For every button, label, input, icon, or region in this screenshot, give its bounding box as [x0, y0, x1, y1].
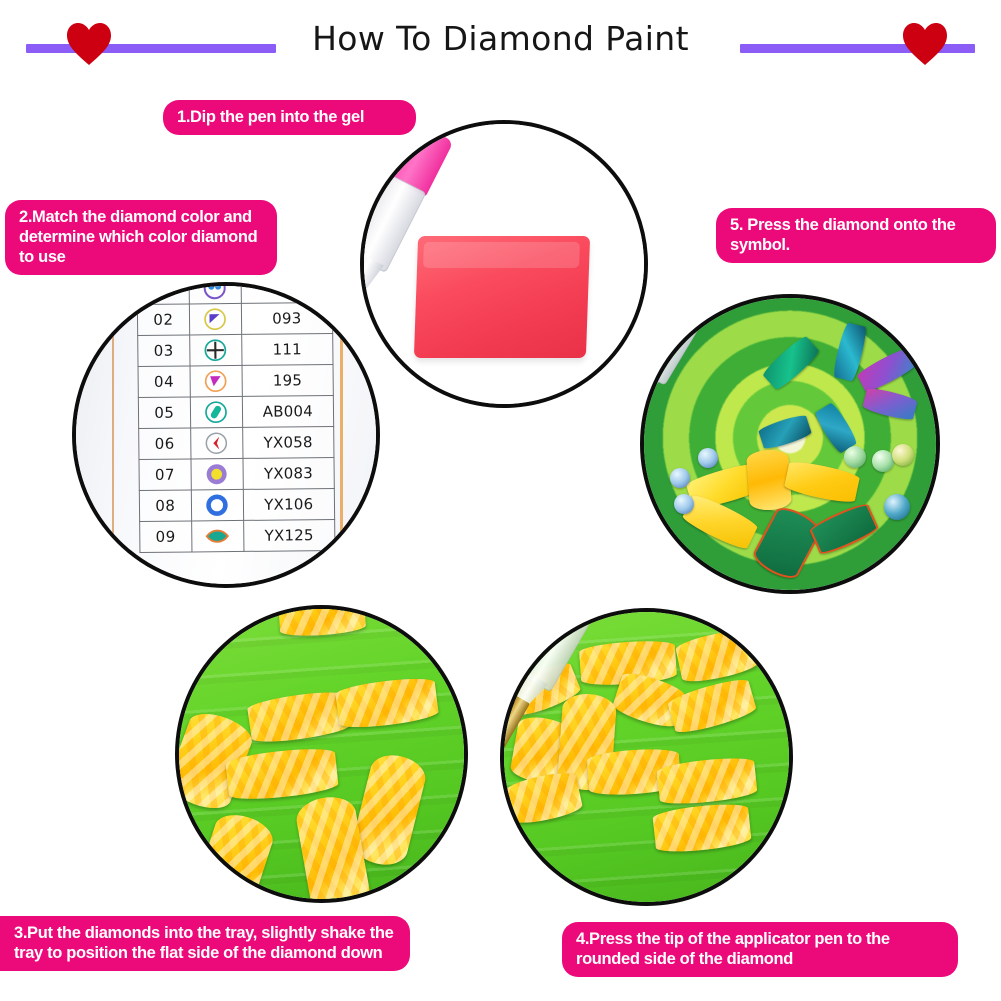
chart-row-symbol [189, 282, 241, 304]
diamond-gem [698, 448, 718, 468]
table-row: 09 YX125 [140, 519, 335, 552]
chart-row-number: 07 [139, 459, 191, 491]
purple-triangle-in-yellow-circle-icon [203, 307, 227, 331]
step-5-photo [640, 294, 940, 594]
chart-row-code: YX106 [243, 488, 335, 520]
page-header: How To Diamond Paint [0, 0, 1001, 90]
chart-row-symbol [191, 489, 243, 521]
chart-row-number: 03 [138, 335, 190, 367]
table-row: 028 [137, 282, 332, 305]
chart-margin-line [340, 286, 343, 584]
pen-tip [500, 694, 530, 752]
yellow-dot-in-purple-ring-icon [205, 462, 229, 486]
step-3-photo [175, 605, 468, 903]
chart-row-number: 04 [138, 366, 190, 398]
chart-row-code: YX058 [242, 426, 334, 458]
chart-row-number: 09 [140, 521, 192, 553]
step-2-label: 2.Match the diamond color and determine … [5, 200, 277, 275]
chart-row-code: YX083 [243, 457, 335, 489]
color-chart-table: 028 02 093 03 [137, 282, 336, 553]
page-title: How To Diamond Paint [0, 19, 1001, 58]
table-row: 04 195 [138, 364, 333, 397]
step-4-label: 4.Press the tip of the applicator pen to… [562, 922, 958, 977]
chart-row-number: 08 [139, 490, 191, 522]
table-row: 06 YX058 [139, 426, 334, 459]
step-4-photo [500, 608, 793, 906]
chart-row-number: 05 [138, 397, 190, 429]
table-row: 02 093 [137, 302, 332, 335]
chart-row-symbol [190, 365, 242, 397]
chart-row-number [137, 282, 189, 305]
diamond-gem [674, 494, 694, 514]
red-chevron-in-circle-icon [204, 431, 228, 455]
magenta-triangle-in-orange-circle-icon [204, 369, 228, 393]
chart-row-code: 111 [241, 333, 333, 365]
chart-row-code: AB004 [242, 395, 334, 427]
chart-row-symbol [190, 396, 242, 428]
chart-row-symbol [191, 458, 243, 490]
chart-row-number: 02 [137, 304, 189, 336]
plus-in-teal-circle-icon [203, 338, 227, 362]
teal-bar-in-circle-icon [204, 400, 228, 424]
chart-row-code: 195 [242, 364, 334, 396]
step-1-photo [360, 120, 648, 408]
chart-row-code: 028 [241, 282, 333, 303]
table-row: 05 AB004 [138, 395, 333, 428]
chart-margin-line [112, 286, 114, 584]
chart-row-symbol [190, 427, 242, 459]
gel-pad [414, 236, 590, 358]
infographic-page: How To Diamond Paint 1.Dip the pen into … [0, 0, 1001, 1001]
table-row: 08 YX106 [139, 488, 334, 521]
chart-row-symbol [189, 303, 241, 335]
chart-row-number: 06 [139, 428, 191, 460]
chart-row-symbol [191, 520, 243, 552]
diamond-gem [892, 444, 914, 466]
diamond-gem [884, 494, 910, 520]
step-5-label: 5. Press the diamond onto the symbol. [716, 208, 996, 263]
chart-row-code: 093 [241, 302, 333, 334]
diamond-gem [872, 450, 894, 472]
chart-row-code: YX125 [243, 519, 335, 551]
teal-leaf-orange-outline-icon [205, 524, 229, 548]
diamond-gem [670, 468, 690, 488]
blue-dots-in-purple-circle-icon [203, 282, 227, 300]
table-row: 03 111 [138, 333, 333, 366]
diamond-gem [844, 446, 866, 468]
step-2-photo: 028 02 093 03 [72, 282, 380, 588]
blue-ring-icon [205, 493, 229, 517]
step-3-label: 3.Put the diamonds into the tray, slight… [0, 916, 410, 971]
table-row: 07 YX083 [139, 457, 334, 490]
chart-row-symbol [189, 334, 241, 366]
